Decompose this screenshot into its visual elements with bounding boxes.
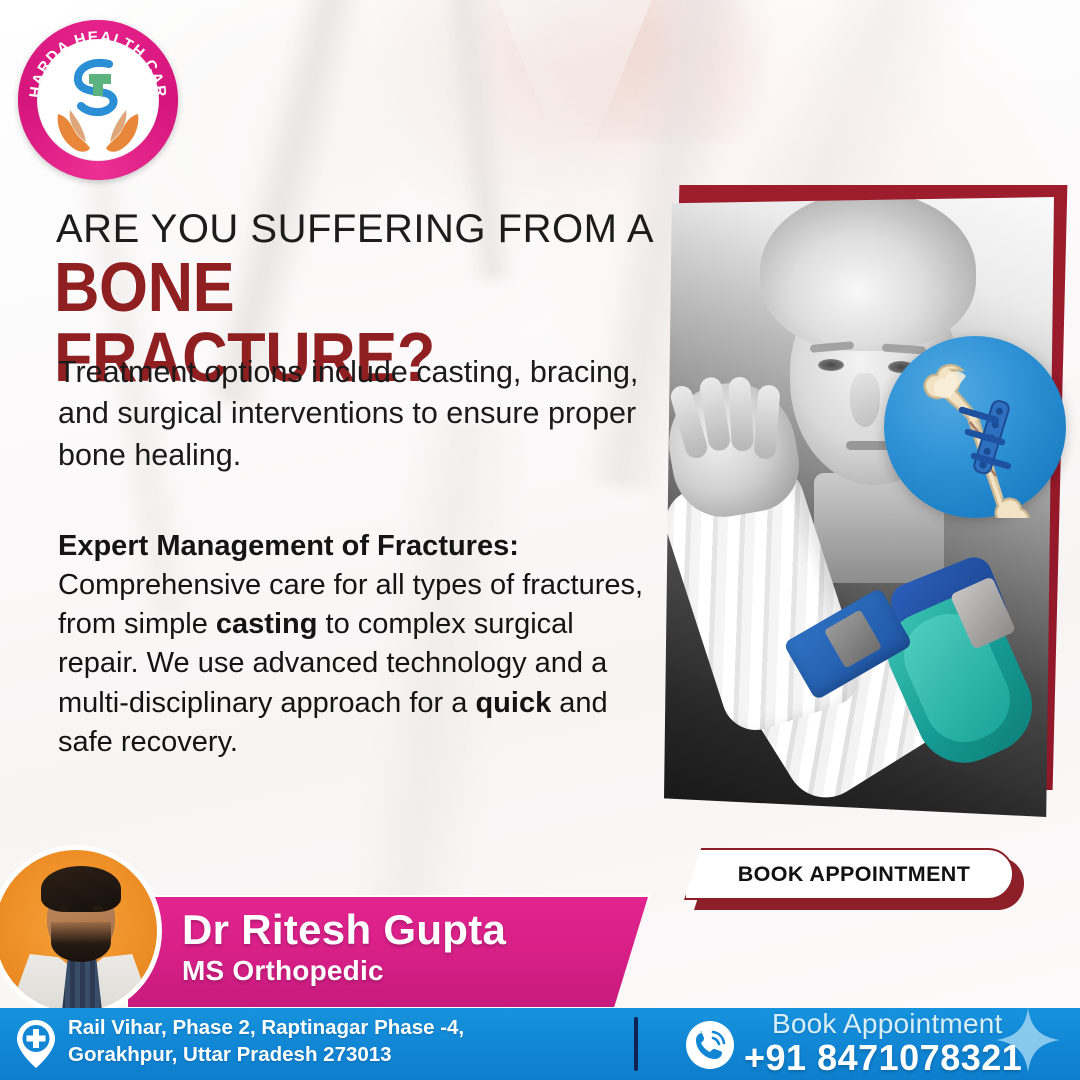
doctor-beard (51, 922, 111, 962)
footer-divider (634, 1017, 638, 1071)
map-pin-medical-cross-icon (14, 1018, 58, 1070)
address-line-1: Rail Vihar, Phase 2, Raptinagar Phase -4… (68, 1014, 588, 1041)
body-lead-in: Expert Management of Fractures: (58, 527, 658, 566)
phone-call-icon[interactable] (685, 1020, 735, 1070)
lead-paragraph: Treatment options include casting, braci… (58, 352, 658, 476)
sharda-health-care-logo[interactable]: SHARDA HEALTH CARE GORAKHPUR (18, 20, 178, 180)
doctor-hair (41, 866, 121, 912)
doctor-qualification: MS Orthopedic (182, 955, 384, 987)
book-appointment-button[interactable]: BOOK APPOINTMENT (684, 848, 1014, 900)
body-paragraph: Expert Management of Fractures:Comprehen… (58, 527, 658, 762)
clinic-address: Rail Vihar, Phase 2, Raptinagar Phase -4… (68, 1014, 588, 1068)
doctor-avatar (0, 845, 162, 1017)
body-bold-quick: quick (475, 687, 551, 719)
address-line-2: Gorakhpur, Uttar Pradesh 273013 (68, 1041, 588, 1068)
doctor-eye (58, 906, 69, 912)
footer-phone-number[interactable]: +91 8471078321 (744, 1037, 1022, 1079)
footer-book-appointment-label: Book Appointment (772, 1008, 1002, 1040)
body-bold-casting: casting (216, 608, 318, 640)
doctor-name: Dr Ritesh Gupta (182, 906, 506, 954)
poster-canvas: SHARDA HEALTH CARE GORAKHPUR (0, 0, 1080, 1080)
book-appointment-button-wrap[interactable]: BOOK APPOINTMENT (684, 848, 1024, 910)
fractured-bone-with-fixation-plate-icon (884, 336, 1066, 518)
headline-line-1: ARE YOU SUFFERING FROM A (56, 208, 676, 250)
fractured-bone-badge (884, 336, 1066, 518)
logo-caring-hands-icon (54, 108, 142, 156)
doctor-eye (92, 906, 103, 912)
